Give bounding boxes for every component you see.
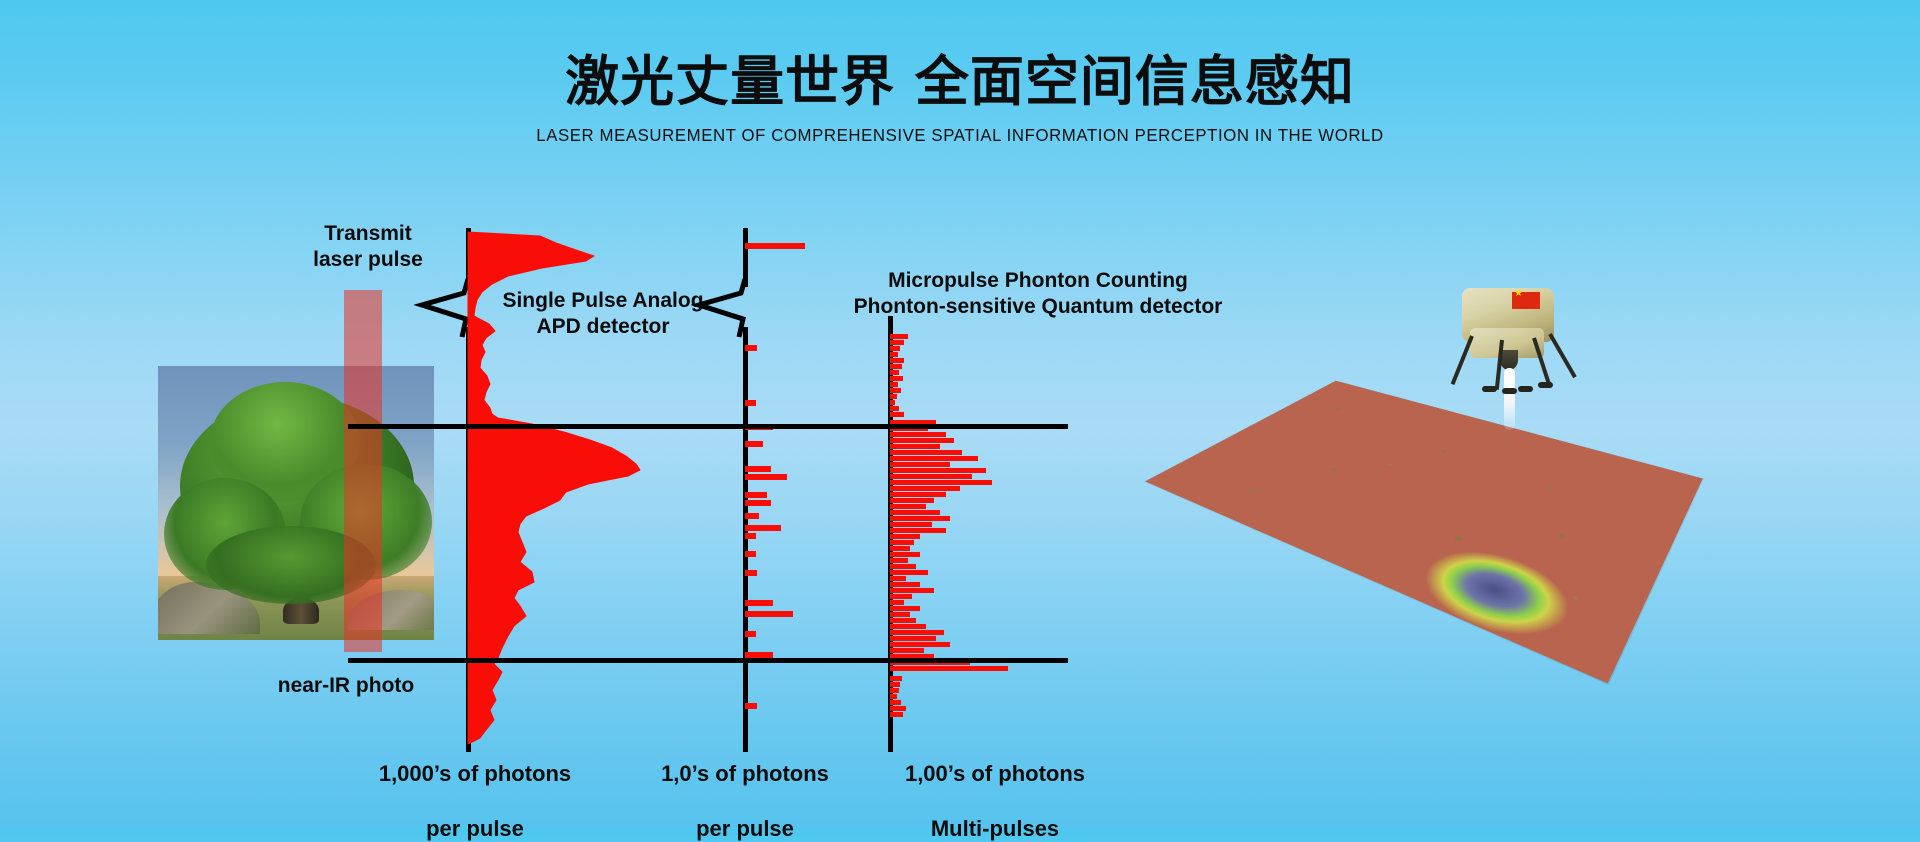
photon-bar — [745, 513, 759, 519]
caption-micropulse-line2: Multi-pulses — [931, 816, 1059, 841]
ground-level-reference-line — [348, 658, 1068, 663]
photon-bar — [890, 540, 914, 545]
photon-bar — [745, 400, 756, 406]
photon-bar — [890, 376, 903, 381]
label-near-ir-photo: near-IR photo — [246, 673, 446, 699]
photon-bar — [890, 642, 950, 647]
photon-bar — [745, 474, 787, 480]
photon-bar — [890, 588, 934, 593]
photon-bar — [890, 630, 944, 635]
photon-bar — [745, 500, 771, 506]
photon-bar — [890, 370, 899, 375]
caption-analog-line2: per pulse — [426, 816, 524, 841]
photon-bar — [890, 510, 940, 515]
lander-leg-1 — [1451, 335, 1474, 385]
photon-bar — [890, 558, 908, 563]
photon-bar — [890, 534, 920, 539]
photon-bar — [890, 712, 903, 717]
photon-bar — [890, 498, 934, 503]
photon-bar — [890, 528, 946, 533]
photon-bar — [890, 334, 908, 339]
photon-bar — [890, 450, 962, 455]
photon-bar — [890, 706, 906, 711]
photon-bar — [745, 570, 757, 576]
lander-footpad-1 — [1482, 386, 1497, 392]
caption-analog-panel: 1,000’s of photons per pulse — [360, 733, 590, 842]
terrain-speckle-texture — [1145, 381, 1703, 684]
photon-bar — [890, 688, 899, 693]
lander-leg-4 — [1548, 333, 1576, 378]
chinese-flag-icon — [1512, 292, 1540, 309]
photon-bar — [890, 570, 928, 575]
photon-bar — [890, 486, 960, 491]
caption-single-line2: per pulse — [696, 816, 794, 841]
lander-exhaust-plume — [1504, 368, 1515, 430]
photon-bar — [890, 364, 902, 369]
caption-analog-line1: 1,000’s of photons — [379, 761, 571, 786]
photon-bar — [890, 444, 940, 449]
photon-bar — [890, 546, 910, 551]
photon-bar — [890, 456, 978, 461]
photon-bar — [745, 703, 757, 709]
photon-bar — [745, 611, 793, 617]
photon-bar — [745, 466, 771, 472]
photon-bar — [745, 600, 773, 606]
lander-footpad-3 — [1518, 386, 1533, 392]
lunar-lander — [1448, 288, 1568, 398]
lander-footpad-2 — [1502, 388, 1517, 394]
lander-engine-nozzle — [1500, 350, 1518, 370]
waveform-single-pulse-analog-apd — [468, 232, 668, 744]
label-micropulse-photon-counting-detector: Micropulse Phonton Counting Phonton-sens… — [828, 268, 1248, 320]
photon-bar — [890, 468, 986, 473]
photon-bar — [745, 525, 781, 531]
photon-bar — [890, 480, 992, 485]
photon-bar — [890, 682, 900, 687]
photon-bar — [745, 441, 763, 447]
label-transmit-laser-pulse: Transmit laser pulse — [268, 221, 468, 273]
photon-bar — [745, 631, 756, 637]
photon-bar — [890, 694, 897, 699]
photon-bar — [745, 551, 756, 557]
photon-bar — [890, 516, 950, 521]
lidar-terrain-scene — [1190, 330, 1750, 690]
photon-bar — [890, 340, 904, 345]
page-title: 激光丈量世界 全面空间信息感知 — [0, 52, 1920, 111]
poster-canvas: 激光丈量世界 全面空间信息感知 LASER MEASUREMENT OF COM… — [0, 0, 1920, 828]
axis-break-zigzag-single-photon-counting — [691, 277, 755, 341]
photon-bar — [890, 666, 1008, 671]
photon-bar — [745, 345, 757, 351]
photon-bar — [890, 582, 920, 587]
caption-single-panel: 1,0’s of photons per pulse — [630, 733, 860, 842]
photon-bar — [890, 474, 972, 479]
photon-bar — [890, 618, 916, 623]
caption-micropulse-line1: 1,00’s of photons — [905, 761, 1085, 786]
photon-bar — [890, 624, 926, 629]
photon-bar — [890, 606, 920, 611]
photon-bar — [890, 552, 920, 557]
near-ir-tree-photo — [158, 366, 434, 640]
photon-bar — [890, 352, 898, 357]
photon-bar — [890, 676, 902, 681]
photon-bar — [890, 612, 910, 617]
photon-bar — [890, 400, 895, 405]
photon-bar — [745, 243, 805, 249]
photon-bar — [890, 636, 936, 641]
photon-bar — [890, 462, 950, 467]
photon-bar — [890, 522, 932, 527]
photon-bar — [890, 358, 904, 363]
colorized-3d-terrain-mesh — [1145, 381, 1703, 684]
photon-bar — [890, 406, 899, 411]
canopy-top-reference-line — [348, 424, 1068, 429]
photon-bar — [890, 412, 904, 417]
photon-bar — [890, 504, 926, 509]
caption-single-line1: 1,0’s of photons — [661, 761, 829, 786]
page-subtitle: LASER MEASUREMENT OF COMPREHENSIVE SPATI… — [38, 125, 1881, 146]
photon-bar — [890, 700, 901, 705]
vertical-axis-single-photon-counting-2 — [743, 327, 748, 752]
photon-bar — [890, 564, 916, 569]
photon-bar — [890, 438, 954, 443]
caption-micropulse-panel: 1,00’s of photons Multi-pulses — [880, 733, 1110, 842]
photon-bar — [890, 594, 912, 599]
photon-bar — [890, 394, 897, 399]
photon-bar — [890, 346, 900, 351]
photon-bar — [890, 382, 898, 387]
photon-bar — [890, 648, 924, 653]
photon-bar — [890, 492, 946, 497]
photon-bar — [890, 388, 901, 393]
photon-bar — [745, 492, 767, 498]
photon-bar — [745, 533, 756, 539]
photon-bar — [890, 432, 946, 437]
transmit-laser-beam — [344, 290, 382, 652]
lander-footpad-4 — [1538, 382, 1553, 388]
photon-bar — [890, 576, 906, 581]
photon-bar — [890, 600, 904, 605]
